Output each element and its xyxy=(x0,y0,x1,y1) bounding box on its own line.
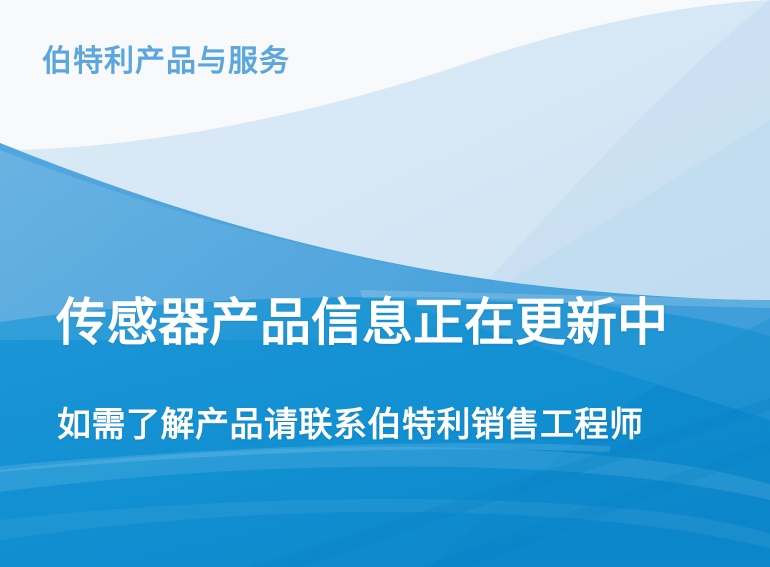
promo-banner: 伯特利产品与服务 传感器产品信息正在更新中 如需了解产品请联系伯特利销售工程师 xyxy=(0,0,770,567)
page-title: 伯特利产品与服务 xyxy=(42,44,290,80)
background-artwork xyxy=(0,0,770,567)
subheadline-text: 如需了解产品请联系伯特利销售工程师 xyxy=(57,406,644,445)
headline-text: 传感器产品信息正在更新中 xyxy=(56,294,668,353)
